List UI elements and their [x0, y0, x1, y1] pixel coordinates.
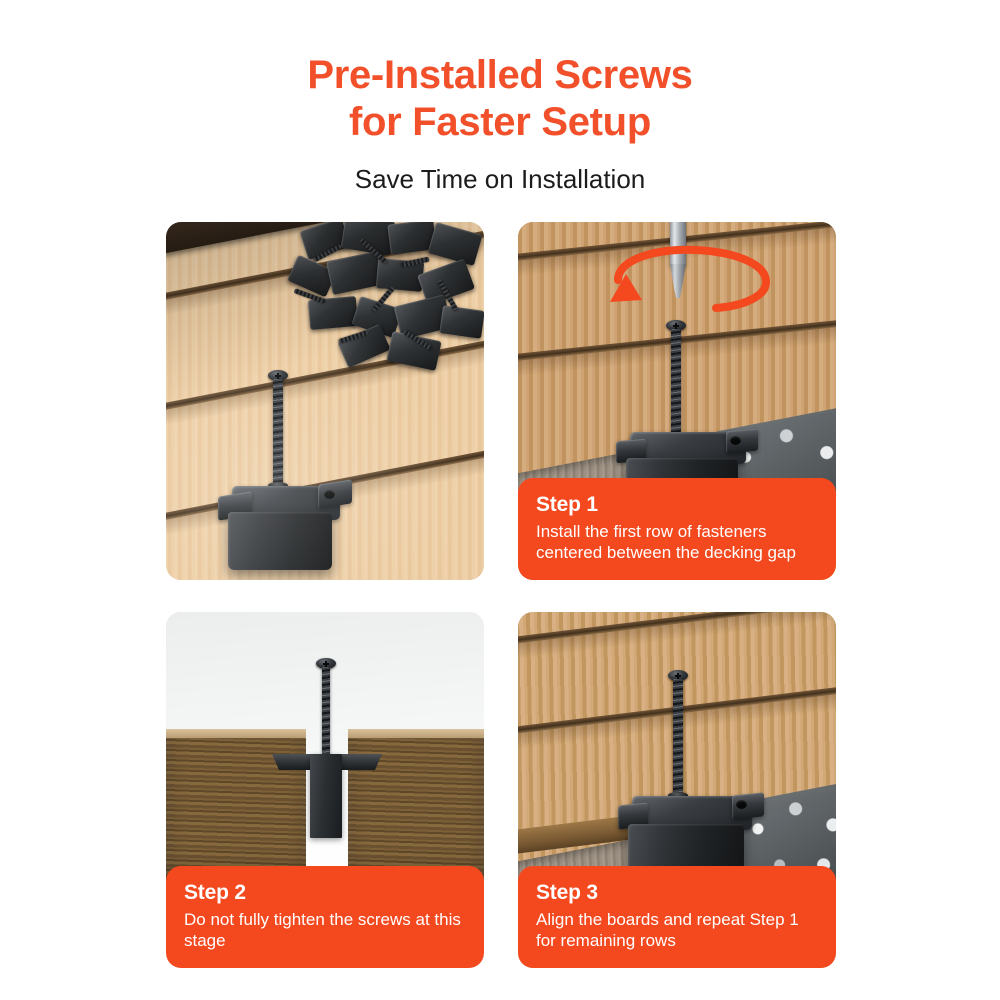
- deck-clip-fastener: [616, 310, 766, 488]
- hero-scene: [166, 222, 484, 580]
- page-title: Pre-Installed Screws for Faster Setup: [0, 52, 1000, 146]
- panel-step-2: Step 2 Do not fully tighten the screws a…: [166, 612, 484, 968]
- header: Pre-Installed Screws for Faster Setup Sa…: [0, 52, 1000, 195]
- driver-bit-shaft: [670, 222, 686, 266]
- scene-vignette: [166, 222, 484, 580]
- panel-hero: [166, 222, 484, 580]
- step-3-caption: Step 3 Align the boards and repeat Step …: [518, 866, 836, 968]
- pre-installed-screw: [316, 658, 336, 764]
- pre-installed-screw: [668, 670, 688, 802]
- page-subtitle: Save Time on Installation: [0, 164, 1000, 195]
- pre-installed-screw: [666, 320, 686, 448]
- page-title-line-2: for Faster Setup: [0, 99, 1000, 146]
- deck-clip-fastener: [618, 670, 768, 860]
- panel-grid: Step 1 Install the first row of fastener…: [166, 222, 836, 968]
- screw-shank: [673, 679, 683, 795]
- step-1-caption-text: Install the first row of fasteners cente…: [536, 521, 818, 565]
- step-2-caption: Step 2 Do not fully tighten the screws a…: [166, 866, 484, 968]
- deck-clip-fastener: [266, 658, 386, 838]
- step-3-caption-title: Step 3: [536, 880, 818, 905]
- page-title-line-1: Pre-Installed Screws: [0, 52, 1000, 99]
- step-3-caption-text: Align the boards and repeat Step 1 for r…: [536, 909, 818, 953]
- screw-shank: [671, 329, 681, 441]
- step-2-caption-text: Do not fully tighten the screws at this …: [184, 909, 466, 953]
- infographic-page: Pre-Installed Screws for Faster Setup Sa…: [0, 0, 1000, 1000]
- step-1-caption: Step 1 Install the first row of fastener…: [518, 478, 836, 580]
- panel-step-1: Step 1 Install the first row of fastener…: [518, 222, 836, 580]
- step-2-caption-title: Step 2: [184, 880, 466, 905]
- panel-step-3: Step 3 Align the boards and repeat Step …: [518, 612, 836, 968]
- step-1-caption-title: Step 1: [536, 492, 818, 517]
- screw-shank: [322, 667, 330, 763]
